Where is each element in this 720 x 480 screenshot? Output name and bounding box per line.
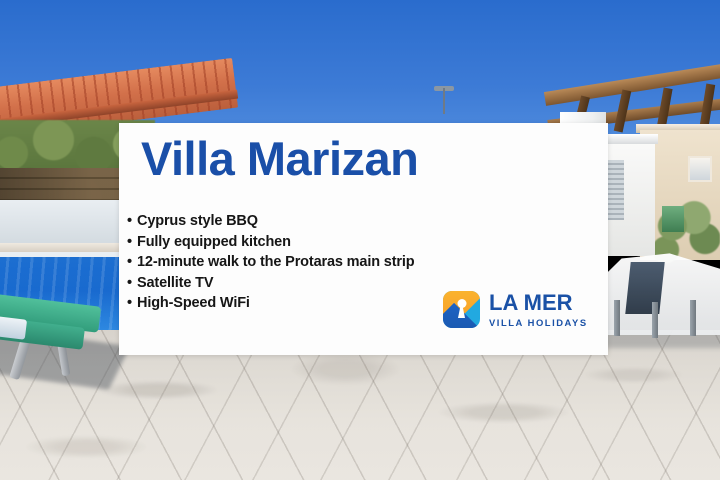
feature-label: 12-minute walk to the Protaras main stri… [137,254,414,270]
listing-promo-image: Villa Marizan •Cyprus style BBQ •Fully e… [0,0,720,480]
list-item: •Fully equipped kitchen [127,232,414,253]
folded-towel [0,316,27,340]
list-item: •12-minute walk to the Protaras main str… [127,252,414,273]
furniture-leg [690,300,696,336]
logo-keyhole-glyph [457,299,466,308]
feature-list: •Cyprus style BBQ •Fully equipped kitche… [127,211,414,314]
feature-label: Cyprus style BBQ [137,213,258,229]
feature-label: Satellite TV [137,275,213,291]
key-door-icon [443,291,480,328]
bullet-icon: • [127,273,137,294]
pool-rim [0,252,128,257]
info-card: Villa Marizan •Cyprus style BBQ •Fully e… [119,123,608,355]
outdoor-chair [625,262,664,314]
building-window [688,156,712,182]
furniture-leg [652,302,658,338]
green-gate [662,206,684,232]
list-item: •High-Speed WiFi [127,293,414,314]
roof-antenna-mast [443,88,445,114]
brand-logo-text: LA MER VILLA HOLIDAYS [489,292,588,327]
brand-tagline: VILLA HOLIDAYS [489,318,588,327]
brand-name: LA MER [489,292,588,314]
bullet-icon: • [127,293,137,314]
bullet-icon: • [127,211,137,232]
feature-label: High-Speed WiFi [137,295,250,311]
bullet-icon: • [127,252,137,273]
furniture-leg [614,300,620,336]
brand-logo: LA MER VILLA HOLIDAYS [443,291,588,328]
list-item: •Cyprus style BBQ [127,211,414,232]
list-item: •Satellite TV [127,273,414,294]
bullet-icon: • [127,232,137,253]
feature-label: Fully equipped kitchen [137,234,291,250]
page-title: Villa Marizan [141,135,418,182]
